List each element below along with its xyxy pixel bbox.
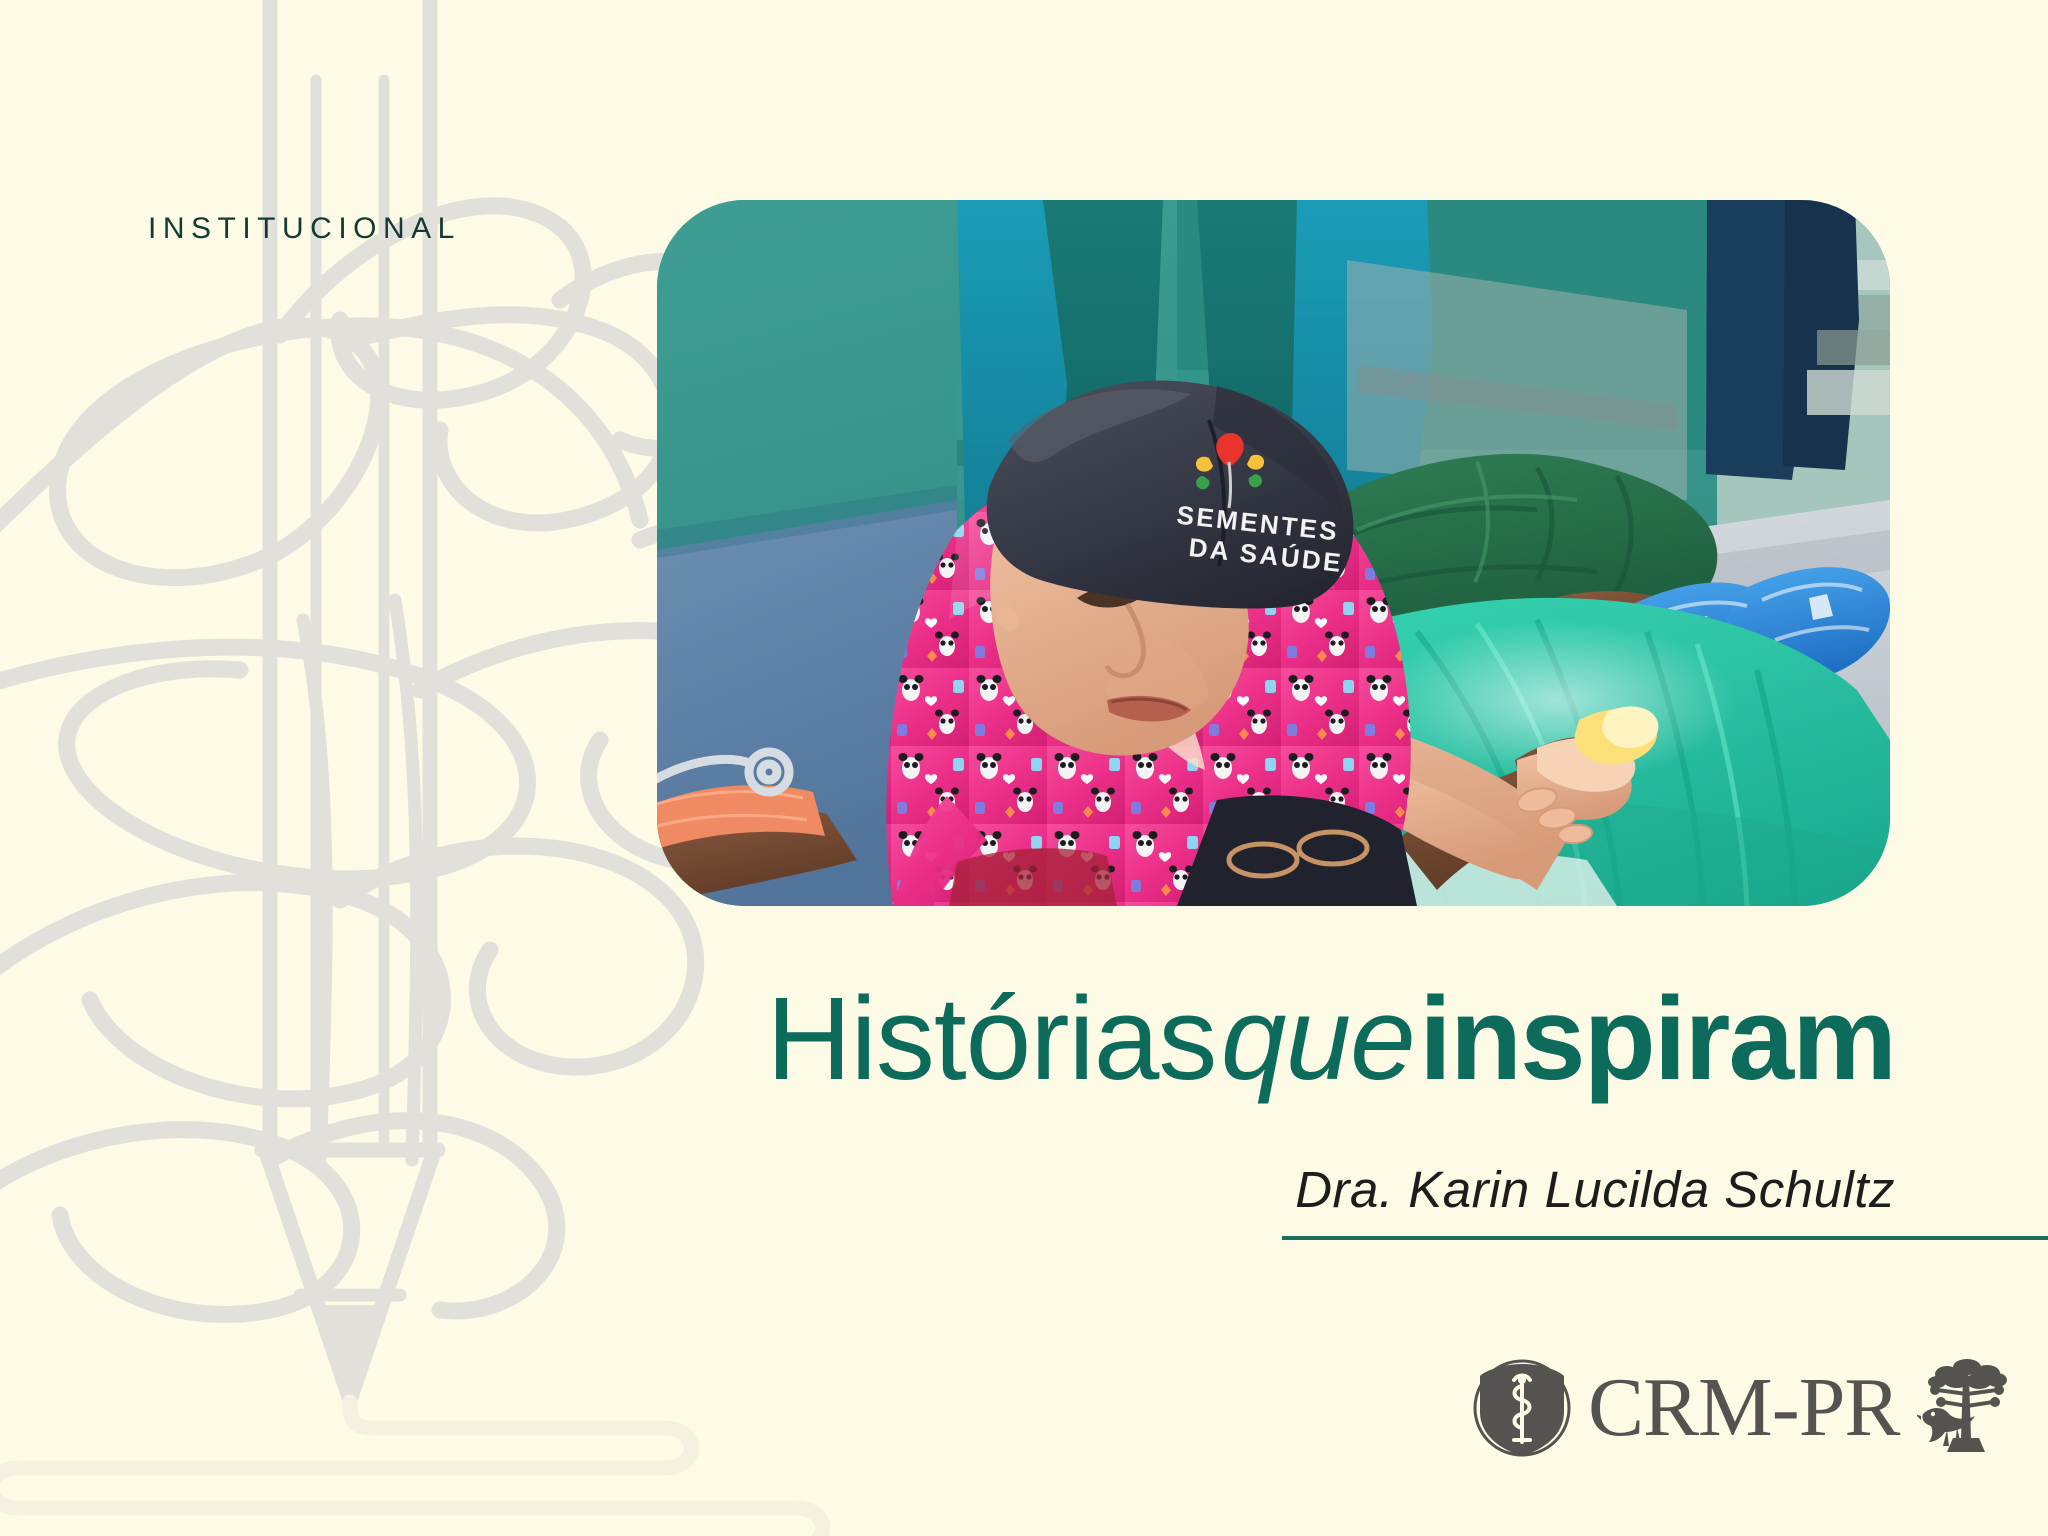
araucaria-pine-with-bird-icon (1917, 1358, 2013, 1458)
hero-photo: SEMENTES DA SAÚDE (657, 200, 1890, 906)
title-word-que: que (1221, 973, 1415, 1105)
crm-pr-wordmark: CRM-PR (1588, 1366, 1899, 1450)
subtitle-divider (1282, 1236, 2048, 1240)
subtitle-author: Dra. Karin Lucilda Schultz (0, 1160, 1895, 1219)
pencil-drawn-line (0, 1402, 823, 1536)
crm-pr-logo: CRM-PR (1470, 1348, 2013, 1468)
title-word-inspiram: inspiram (1419, 973, 1895, 1105)
kicker-label: INSTITUCIONAL (148, 212, 461, 246)
title-word-historias: Histórias (766, 973, 1216, 1105)
caduceus-shield-icon (1470, 1356, 1574, 1460)
page-title: Histórias que inspiram (0, 980, 1895, 1098)
